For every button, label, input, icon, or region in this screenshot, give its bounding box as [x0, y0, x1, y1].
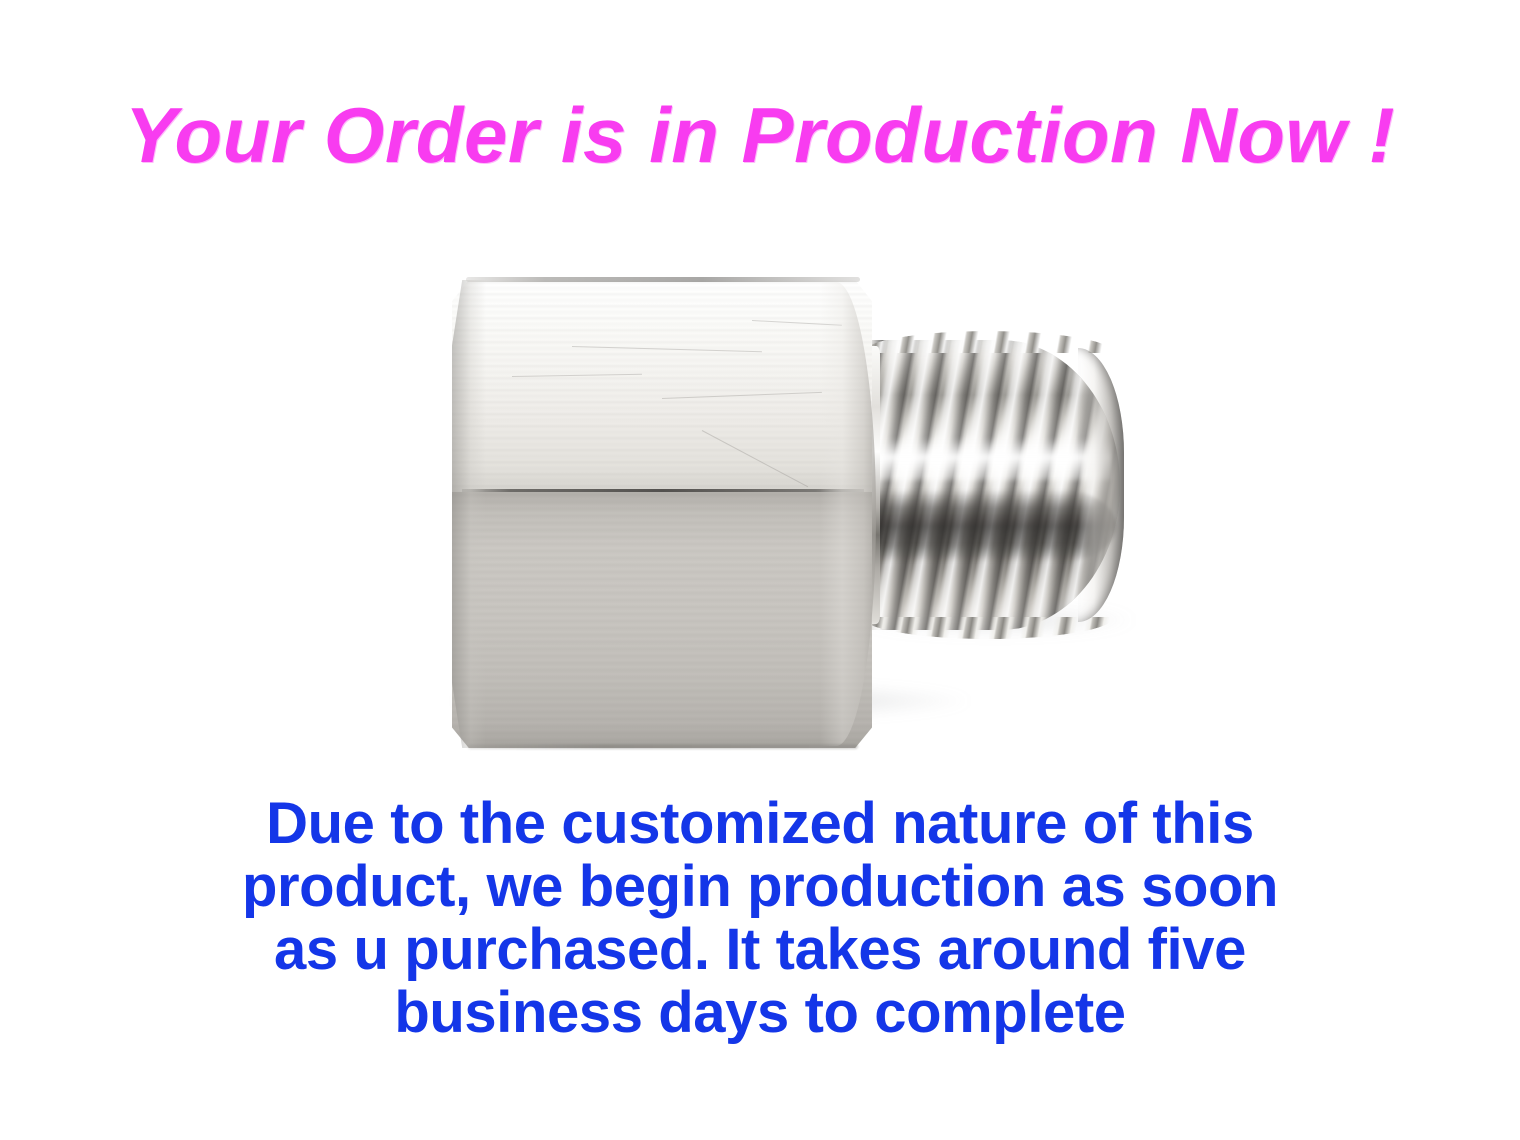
thread-crest-top: [862, 331, 1114, 353]
notice-line-2: product, we begin production as soon: [0, 855, 1520, 918]
hex-upper-machining-marks: [452, 280, 872, 492]
product-photo: [380, 235, 1200, 775]
male-thread-section: [850, 340, 1135, 630]
thread-end-cap: [1078, 348, 1124, 622]
page-title: Your Order is in Production Now !: [0, 96, 1520, 174]
notice-line-1: Due to the customized nature of this: [0, 792, 1520, 855]
hex-body-section: [452, 280, 872, 748]
promo-banner-page: Your Order is in Production Now !: [0, 0, 1520, 1140]
thread-specular-highlight: [860, 438, 1112, 480]
notice-line-3: as u purchased. It takes around five: [0, 918, 1520, 981]
notice-line-4: business days to complete: [0, 981, 1520, 1044]
hex-bottom-edge: [468, 744, 858, 749]
hex-lower-machining-marks: [452, 492, 872, 748]
hex-left-chamfer: [452, 280, 486, 748]
production-notice: Due to the customized nature of this pro…: [0, 792, 1520, 1044]
hex-top-edge: [466, 277, 860, 282]
thread-crest-bottom: [862, 617, 1114, 639]
hex-facet-edge: [462, 489, 864, 492]
